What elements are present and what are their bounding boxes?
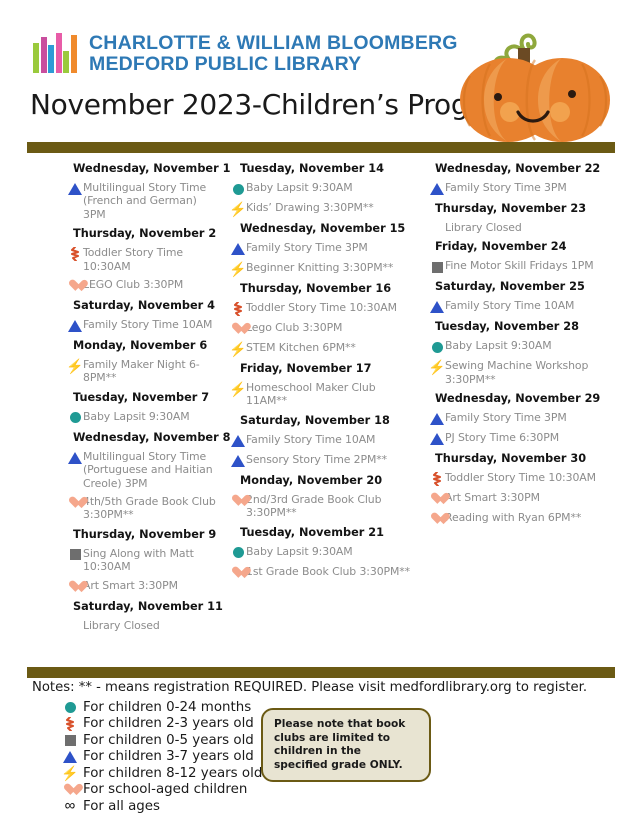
event-label: Beginner Knitting 3:30PM**: [246, 261, 393, 274]
event-age-icon: [67, 411, 83, 425]
logo-bar: [56, 33, 62, 73]
event-item[interactable]: PJ Story Time 6:30PM: [429, 431, 614, 446]
event-label: Fine Motor Skill Fridays 1PM: [445, 259, 594, 272]
event-age-icon: ⚡: [230, 382, 246, 396]
event-label: Baby Lapsit 9:30AM: [246, 181, 353, 194]
event-item[interactable]: Lego Club 3:30PM: [230, 321, 417, 336]
legend-icon: [57, 735, 83, 746]
legend-icon: [57, 702, 83, 713]
day-heading: Wednesday, November 15: [240, 222, 417, 236]
event-label: Library Closed: [83, 619, 160, 632]
event-label: 2nd/3rd Grade Book Club 3:30PM**: [246, 493, 417, 520]
event-item[interactable]: LEGO Club 3:30PM: [67, 278, 220, 293]
triangle-icon: [430, 301, 444, 313]
calendar-columns: Wednesday, November 1Multilingual Story …: [27, 156, 619, 656]
logo-bar: [48, 45, 54, 73]
legend-icon: [57, 784, 83, 796]
event-label: Lego Club 3:30PM: [246, 321, 342, 334]
day-heading: Tuesday, November 7: [73, 391, 220, 405]
triangle-icon: [430, 433, 444, 445]
lightning-bolt-icon: ⚡: [229, 343, 246, 355]
event-age-icon: [67, 279, 83, 293]
squiggle-icon: [432, 472, 442, 486]
library-name-line2: MEDFORD PUBLIC LIBRARY: [89, 54, 458, 75]
circle-icon: [70, 412, 81, 423]
event-age-icon: [67, 496, 83, 510]
divider-bottom: [27, 667, 615, 678]
triangle-icon: [430, 183, 444, 195]
event-item[interactable]: Reading with Ryan 6PM**: [429, 511, 614, 526]
legend-label: For children 0-24 months: [83, 700, 251, 715]
event-label: Reading with Ryan 6PM**: [445, 511, 581, 524]
square-icon: [70, 549, 81, 560]
day-heading: Thursday, November 16: [240, 282, 417, 296]
event-item[interactable]: ⚡Kids’ Drawing 3:30PM**: [230, 201, 417, 216]
triangle-icon: [231, 455, 245, 467]
lightning-bolt-icon: ⚡: [229, 203, 246, 215]
book-club-note-box: Please note that book clubs are limited …: [261, 708, 431, 782]
day-heading: Saturday, November 18: [240, 414, 417, 428]
legend: For children 0-24 monthsFor children 2-3…: [57, 699, 262, 815]
event-age-icon: [230, 242, 246, 256]
day-heading: Wednesday, November 22: [435, 162, 614, 176]
logo-bar: [33, 43, 39, 73]
day-heading: Thursday, November 23: [435, 202, 614, 216]
logo-bar: [63, 51, 69, 73]
event-item[interactable]: Family Story Time 3PM: [429, 181, 614, 196]
event-age-icon: [429, 472, 445, 486]
event-label: Art Smart 3:30PM: [445, 491, 540, 504]
event-item[interactable]: 2nd/3rd Grade Book Club 3:30PM**: [230, 493, 417, 520]
legend-row: For children 3-7 years old: [57, 749, 262, 766]
day-heading: Thursday, November 30: [435, 452, 614, 466]
event-age-icon: [230, 566, 246, 580]
event-label: Art Smart 3:30PM: [83, 579, 178, 592]
event-item[interactable]: Family Story Time 10AM: [67, 318, 220, 333]
event-age-icon: [230, 454, 246, 468]
event-item[interactable]: Family Story Time 10AM: [429, 299, 614, 314]
day-heading: Wednesday, November 8: [73, 431, 220, 445]
infinity-icon: ∞: [65, 800, 76, 812]
event-age-icon: ⚡: [67, 359, 83, 373]
event-age-icon: ⚡: [230, 342, 246, 356]
heart-icon: [69, 497, 82, 509]
event-label: Family Story Time 3PM: [445, 411, 567, 424]
day-heading: Saturday, November 25: [435, 280, 614, 294]
triangle-icon: [231, 435, 245, 447]
event-label: Toddler Story Time 10:30AM: [445, 471, 596, 484]
day-heading: Tuesday, November 21: [240, 526, 417, 540]
day-heading: Thursday, November 9: [73, 528, 220, 542]
day-heading: Wednesday, November 1: [73, 162, 220, 176]
event-item[interactable]: ⚡STEM Kitchen 6PM**: [230, 341, 417, 356]
book-club-note-text: Please note that book clubs are limited …: [274, 718, 418, 772]
legend-row: For school-aged children: [57, 782, 262, 799]
circle-icon: [233, 184, 244, 195]
circle-icon: [233, 547, 244, 558]
event-age-icon: [230, 322, 246, 336]
calendar-column: Tuesday, November 14Baby Lapsit 9:30AM⚡K…: [224, 156, 421, 656]
triangle-icon: [430, 413, 444, 425]
squiggle-icon: [233, 302, 243, 316]
books-icon: [33, 33, 79, 73]
calendar-column: Wednesday, November 22Family Story Time …: [421, 156, 618, 656]
event-label: Library Closed: [445, 221, 522, 234]
event-age-icon: [67, 548, 83, 562]
day-heading: Saturday, November 11: [73, 600, 220, 614]
event-age-icon: [230, 494, 246, 508]
legend-row: ∞For all ages: [57, 798, 262, 815]
legend-label: For children 0-5 years old: [83, 733, 254, 748]
lightning-bolt-icon: ⚡: [66, 360, 83, 372]
legend-icon: ⚡: [57, 767, 83, 779]
library-name: CHARLOTTE & WILLIAM BLOOMBERG MEDFORD PU…: [89, 33, 458, 75]
event-item[interactable]: Multilingual Story Time (French and Germ…: [67, 181, 220, 221]
heart-icon: [232, 323, 245, 335]
event-item[interactable]: Art Smart 3:30PM: [429, 491, 614, 506]
event-label: 4th/5th Grade Book Club 3:30PM**: [83, 495, 220, 522]
triangle-icon: [68, 452, 82, 464]
divider-top: [27, 142, 615, 153]
square-icon: [432, 262, 443, 273]
event-label: Multilingual Story Time (Portuguese and …: [83, 450, 220, 490]
event-label: Toddler Story Time 10:30AM: [246, 301, 397, 314]
legend-icon: [57, 751, 83, 763]
event-label: Multilingual Story Time (French and Germ…: [83, 181, 220, 221]
squiggle-icon: [65, 717, 75, 731]
event-item[interactable]: ⚡Sewing Machine Workshop 3:30PM**: [429, 359, 614, 386]
event-age-icon: [230, 434, 246, 448]
heart-icon: [64, 784, 77, 796]
calendar-column: Wednesday, November 1Multilingual Story …: [27, 156, 224, 656]
legend-row: For children 0-5 years old: [57, 732, 262, 749]
event-item[interactable]: Family Story Time 10AM: [230, 433, 417, 448]
triangle-icon: [68, 183, 82, 195]
event-age-icon: ⚡: [429, 360, 445, 374]
event-age-icon: [429, 432, 445, 446]
event-item[interactable]: ⚡Homeschool Maker Club 11AM**: [230, 381, 417, 408]
day-heading: Tuesday, November 14: [240, 162, 417, 176]
event-label: Family Maker Night 6-8PM**: [83, 358, 220, 385]
heart-icon: [431, 513, 444, 525]
event-item[interactable]: Multilingual Story Time (Portuguese and …: [67, 450, 220, 490]
day-heading: Friday, November 24: [435, 240, 614, 254]
event-item[interactable]: Art Smart 3:30PM: [67, 579, 220, 594]
lightning-bolt-icon: ⚡: [229, 383, 246, 395]
legend-label: For children 2-3 years old: [83, 716, 254, 731]
day-heading: Thursday, November 2: [73, 227, 220, 241]
legend-row: For children 0-24 months: [57, 699, 262, 716]
event-age-icon: [67, 580, 83, 594]
lightning-bolt-icon: ⚡: [61, 767, 78, 779]
day-heading: Monday, November 20: [240, 474, 417, 488]
event-item[interactable]: Sing Along with Matt 10:30AM: [67, 547, 220, 574]
event-item[interactable]: Baby Lapsit 9:30AM: [67, 410, 220, 425]
square-icon: [65, 735, 76, 746]
lightning-bolt-icon: ⚡: [428, 361, 445, 373]
triangle-icon: [63, 751, 77, 763]
library-name-line1: CHARLOTTE & WILLIAM BLOOMBERG: [89, 33, 458, 54]
event-label: PJ Story Time 6:30PM: [445, 431, 559, 444]
legend-label: For all ages: [83, 799, 160, 814]
event-item[interactable]: Library Closed: [67, 619, 220, 632]
event-item[interactable]: Family Story Time 3PM: [230, 241, 417, 256]
calendar-page: CHARLOTTE & WILLIAM BLOOMBERG MEDFORD PU…: [0, 0, 642, 832]
event-item[interactable]: ⚡Family Maker Night 6-8PM**: [67, 358, 220, 385]
event-age-icon: [429, 412, 445, 426]
event-item[interactable]: Baby Lapsit 9:30AM: [429, 339, 614, 354]
event-item[interactable]: Baby Lapsit 9:30AM: [230, 545, 417, 560]
event-label: Toddler Story Time 10:30AM: [83, 246, 220, 273]
event-age-icon: [429, 300, 445, 314]
event-age-icon: [67, 182, 83, 196]
event-label: Family Story Time 10AM: [445, 299, 574, 312]
event-label: 1st Grade Book Club 3:30PM**: [246, 565, 410, 578]
legend-label: For school-aged children: [83, 782, 247, 797]
event-age-icon: [429, 492, 445, 506]
heart-icon: [232, 495, 245, 507]
day-heading: Saturday, November 4: [73, 299, 220, 313]
legend-label: For children 3-7 years old: [83, 749, 254, 764]
event-age-icon: [429, 260, 445, 274]
day-heading: Tuesday, November 28: [435, 320, 614, 334]
event-age-icon: [67, 247, 83, 261]
event-age-icon: ⚡: [230, 202, 246, 216]
heart-icon: [232, 567, 245, 579]
heart-icon: [69, 581, 82, 593]
event-age-icon: ⚡: [230, 262, 246, 276]
event-item[interactable]: Toddler Story Time 10:30AM: [429, 471, 614, 486]
event-label: LEGO Club 3:30PM: [83, 278, 183, 291]
logo-bar: [41, 37, 47, 73]
event-age-icon: [429, 512, 445, 526]
event-label: Homeschool Maker Club 11AM**: [246, 381, 417, 408]
event-item[interactable]: 1st Grade Book Club 3:30PM**: [230, 565, 417, 580]
event-item[interactable]: ⚡Beginner Knitting 3:30PM**: [230, 261, 417, 276]
event-item[interactable]: Toddler Story Time 10:30AM: [230, 301, 417, 316]
lightning-bolt-icon: ⚡: [229, 263, 246, 275]
event-age-icon: [67, 319, 83, 333]
event-item[interactable]: Baby Lapsit 9:30AM: [230, 181, 417, 196]
event-age-icon: [230, 302, 246, 316]
day-heading: Monday, November 6: [73, 339, 220, 353]
event-label: Baby Lapsit 9:30AM: [83, 410, 190, 423]
event-age-icon: [429, 340, 445, 354]
event-item[interactable]: Sensory Story Time 2PM**: [230, 453, 417, 468]
event-label: Family Story Time 10AM: [83, 318, 212, 331]
event-item[interactable]: Toddler Story Time 10:30AM: [67, 246, 220, 273]
legend-icon: [57, 717, 83, 731]
triangle-icon: [231, 243, 245, 255]
event-label: Baby Lapsit 9:30AM: [445, 339, 552, 352]
event-label: Kids’ Drawing 3:30PM**: [246, 201, 374, 214]
event-item[interactable]: Library Closed: [429, 221, 614, 234]
legend-row: ⚡For children 8-12 years old: [57, 765, 262, 782]
event-item[interactable]: Fine Motor Skill Fridays 1PM: [429, 259, 614, 274]
event-label: Family Story Time 3PM: [246, 241, 368, 254]
event-label: STEM Kitchen 6PM**: [246, 341, 356, 354]
event-item[interactable]: 4th/5th Grade Book Club 3:30PM**: [67, 495, 220, 522]
event-item[interactable]: Family Story Time 3PM: [429, 411, 614, 426]
squiggle-icon: [70, 247, 80, 261]
heart-icon: [431, 493, 444, 505]
triangle-icon: [68, 320, 82, 332]
event-label: Sensory Story Time 2PM**: [246, 453, 387, 466]
event-label: Family Story Time 3PM: [445, 181, 567, 194]
circle-icon: [432, 342, 443, 353]
event-age-icon: [429, 182, 445, 196]
heart-icon: [69, 280, 82, 292]
page-header: CHARLOTTE & WILLIAM BLOOMBERG MEDFORD PU…: [0, 0, 642, 140]
legend-label: For children 8-12 years old: [83, 766, 262, 781]
legend-icon: ∞: [57, 800, 83, 812]
notes-text: Notes: ** - means registration REQUIRED.…: [32, 680, 587, 695]
circle-icon: [65, 702, 76, 713]
event-label: Sewing Machine Workshop 3:30PM**: [445, 359, 614, 386]
event-label: Family Story Time 10AM: [246, 433, 375, 446]
logo-bar: [71, 35, 77, 73]
event-age-icon: [230, 182, 246, 196]
event-age-icon: [230, 546, 246, 560]
event-label: Baby Lapsit 9:30AM: [246, 545, 353, 558]
library-logo: CHARLOTTE & WILLIAM BLOOMBERG MEDFORD PU…: [33, 33, 458, 75]
day-heading: Wednesday, November 29: [435, 392, 614, 406]
event-age-icon: [67, 451, 83, 465]
day-heading: Friday, November 17: [240, 362, 417, 376]
event-label: Sing Along with Matt 10:30AM: [83, 547, 220, 574]
pumpkin-illustration: [450, 22, 620, 144]
legend-row: For children 2-3 years old: [57, 716, 262, 733]
